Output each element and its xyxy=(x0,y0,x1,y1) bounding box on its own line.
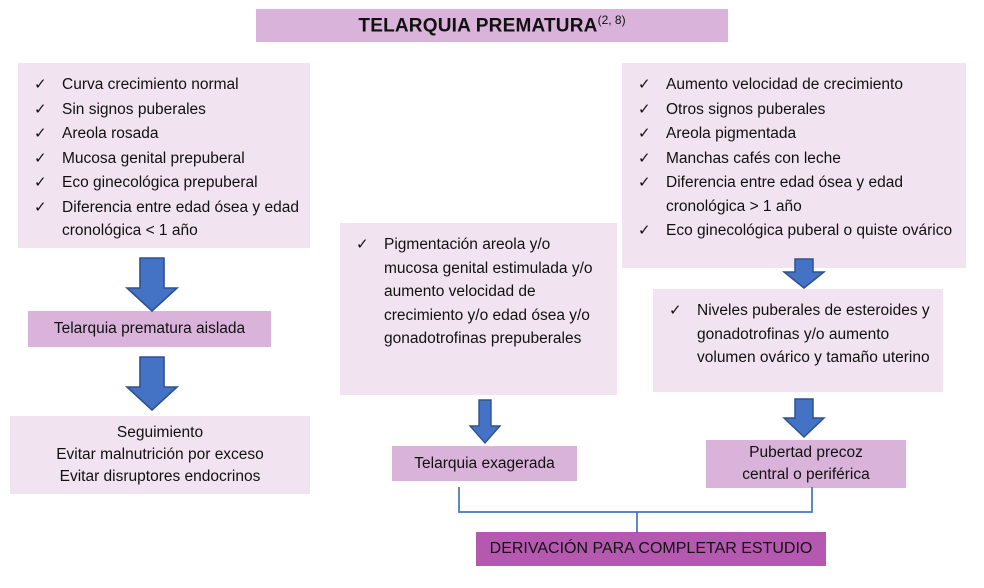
check-icon: ✓ xyxy=(638,122,651,146)
check-icon: ✓ xyxy=(34,147,47,171)
referral-banner: DERIVACIÓN PARA COMPLETAR ESTUDIO xyxy=(476,532,826,566)
list-item: ✓Areola pigmentada xyxy=(636,122,956,146)
check-icon: ✓ xyxy=(34,98,47,122)
left-diagnosis-label: Telarquia prematura aislada xyxy=(28,318,271,340)
list-item: ✓Niveles puberales de esteroides y gonad… xyxy=(667,299,933,370)
chart-title-main: TELARQUIA PREMATURA xyxy=(358,16,597,37)
management-line: Seguimiento xyxy=(10,422,310,444)
check-icon: ✓ xyxy=(638,73,651,97)
list-item-label: Diferencia entre edad ósea y edad cronol… xyxy=(62,199,299,240)
list-item: ✓Diferencia entre edad ósea y edad crono… xyxy=(32,196,300,243)
chart-title-banner: TELARQUIA PREMATURA(2, 8) xyxy=(256,9,728,42)
right-diagnosis-box: Pubertad precoz central o periférica xyxy=(706,440,906,488)
center-diagnosis-label: Telarquia exagerada xyxy=(392,453,577,475)
list-item: ✓Eco ginecológica puberal o quiste ovári… xyxy=(636,219,956,243)
list-item: ✓Mucosa genital prepuberal xyxy=(32,147,300,171)
list-item-label: Mucosa genital prepuberal xyxy=(62,150,245,167)
left-diagnosis-box: Telarquia prematura aislada xyxy=(28,311,271,347)
check-icon: ✓ xyxy=(638,171,651,195)
right-labs-box: ✓Niveles puberales de esteroides y gonad… xyxy=(653,289,943,392)
list-item-label: Otros signos puberales xyxy=(666,101,825,118)
referral-label: DERIVACIÓN PARA COMPLETAR ESTUDIO xyxy=(476,538,826,560)
check-icon: ✓ xyxy=(638,219,651,243)
right-criteria-list: ✓Aumento velocidad de crecimiento ✓Otros… xyxy=(636,73,956,243)
list-item: ✓Areola rosada xyxy=(32,122,300,146)
list-item: ✓Eco ginecológica prepuberal xyxy=(32,171,300,195)
check-icon: ✓ xyxy=(638,98,651,122)
right-diagnosis-lines: Pubertad precoz central o periférica xyxy=(706,442,906,486)
check-icon: ✓ xyxy=(669,299,682,323)
list-item-label: Areola rosada xyxy=(62,125,159,142)
list-item-label: Sin signos puberales xyxy=(62,101,206,118)
list-item-label: Aumento velocidad de crecimiento xyxy=(666,76,903,93)
left-management-box: Seguimiento Evitar malnutrición por exce… xyxy=(10,416,310,494)
management-line: Evitar disruptores endocrinos xyxy=(10,466,310,488)
list-item-label: Niveles puberales de esteroides y gonado… xyxy=(697,302,930,366)
list-item-label: Eco ginecológica puberal o quiste ováric… xyxy=(666,222,952,239)
check-icon: ✓ xyxy=(34,122,47,146)
list-item-label: Diferencia entre edad ósea y edad cronol… xyxy=(666,174,903,215)
center-criteria-box: ✓Pigmentación areola y/o mucosa genital … xyxy=(340,223,617,395)
center-criteria-list: ✓Pigmentación areola y/o mucosa genital … xyxy=(354,233,607,351)
list-item-label: Areola pigmentada xyxy=(666,125,796,142)
list-item: ✓Otros signos puberales xyxy=(636,98,956,122)
list-item-label: Eco ginecológica prepuberal xyxy=(62,174,258,191)
check-icon: ✓ xyxy=(34,171,47,195)
check-icon: ✓ xyxy=(638,147,651,171)
right-labs-list: ✓Niveles puberales de esteroides y gonad… xyxy=(667,299,933,370)
chart-title-references: (2, 8) xyxy=(598,13,626,27)
arrow-right-labs-to-diagnosis xyxy=(784,399,824,437)
list-item: ✓Sin signos puberales xyxy=(32,98,300,122)
arrow-left-criteria-to-diagnosis xyxy=(127,258,177,311)
arrow-center-criteria-to-diagnosis xyxy=(470,400,500,443)
check-icon: ✓ xyxy=(356,233,369,257)
list-item: ✓Diferencia entre edad ósea y edad crono… xyxy=(636,171,956,218)
list-item-label: Manchas cafés con leche xyxy=(666,150,841,167)
list-item-label: Pigmentación areola y/o mucosa genital e… xyxy=(384,236,593,347)
list-item: ✓Manchas cafés con leche xyxy=(636,147,956,171)
diagnosis-line: Pubertad precoz xyxy=(706,442,906,464)
management-line: Evitar malnutrición por exceso xyxy=(10,444,310,466)
check-icon: ✓ xyxy=(34,73,47,97)
left-criteria-box: ✓Curva crecimiento normal ✓Sin signos pu… xyxy=(18,63,310,248)
chart-title-text: TELARQUIA PREMATURA(2, 8) xyxy=(358,13,625,37)
list-item: ✓Aumento velocidad de crecimiento xyxy=(636,73,956,97)
check-icon: ✓ xyxy=(34,196,47,220)
referral-bracket-connector xyxy=(459,487,812,533)
right-criteria-box: ✓Aumento velocidad de crecimiento ✓Otros… xyxy=(622,63,966,268)
list-item-label: Curva crecimiento normal xyxy=(62,76,239,93)
left-management-lines: Seguimiento Evitar malnutrición por exce… xyxy=(10,422,310,488)
diagnosis-line: central o periférica xyxy=(706,464,906,486)
list-item: ✓Curva crecimiento normal xyxy=(32,73,300,97)
arrow-left-diagnosis-to-management xyxy=(127,357,177,410)
center-diagnosis-box: Telarquia exagerada xyxy=(392,446,577,481)
flowchart-canvas: TELARQUIA PREMATURA(2, 8) ✓Curva crecimi… xyxy=(0,0,984,588)
left-criteria-list: ✓Curva crecimiento normal ✓Sin signos pu… xyxy=(32,73,300,243)
list-item: ✓Pigmentación areola y/o mucosa genital … xyxy=(354,233,607,351)
